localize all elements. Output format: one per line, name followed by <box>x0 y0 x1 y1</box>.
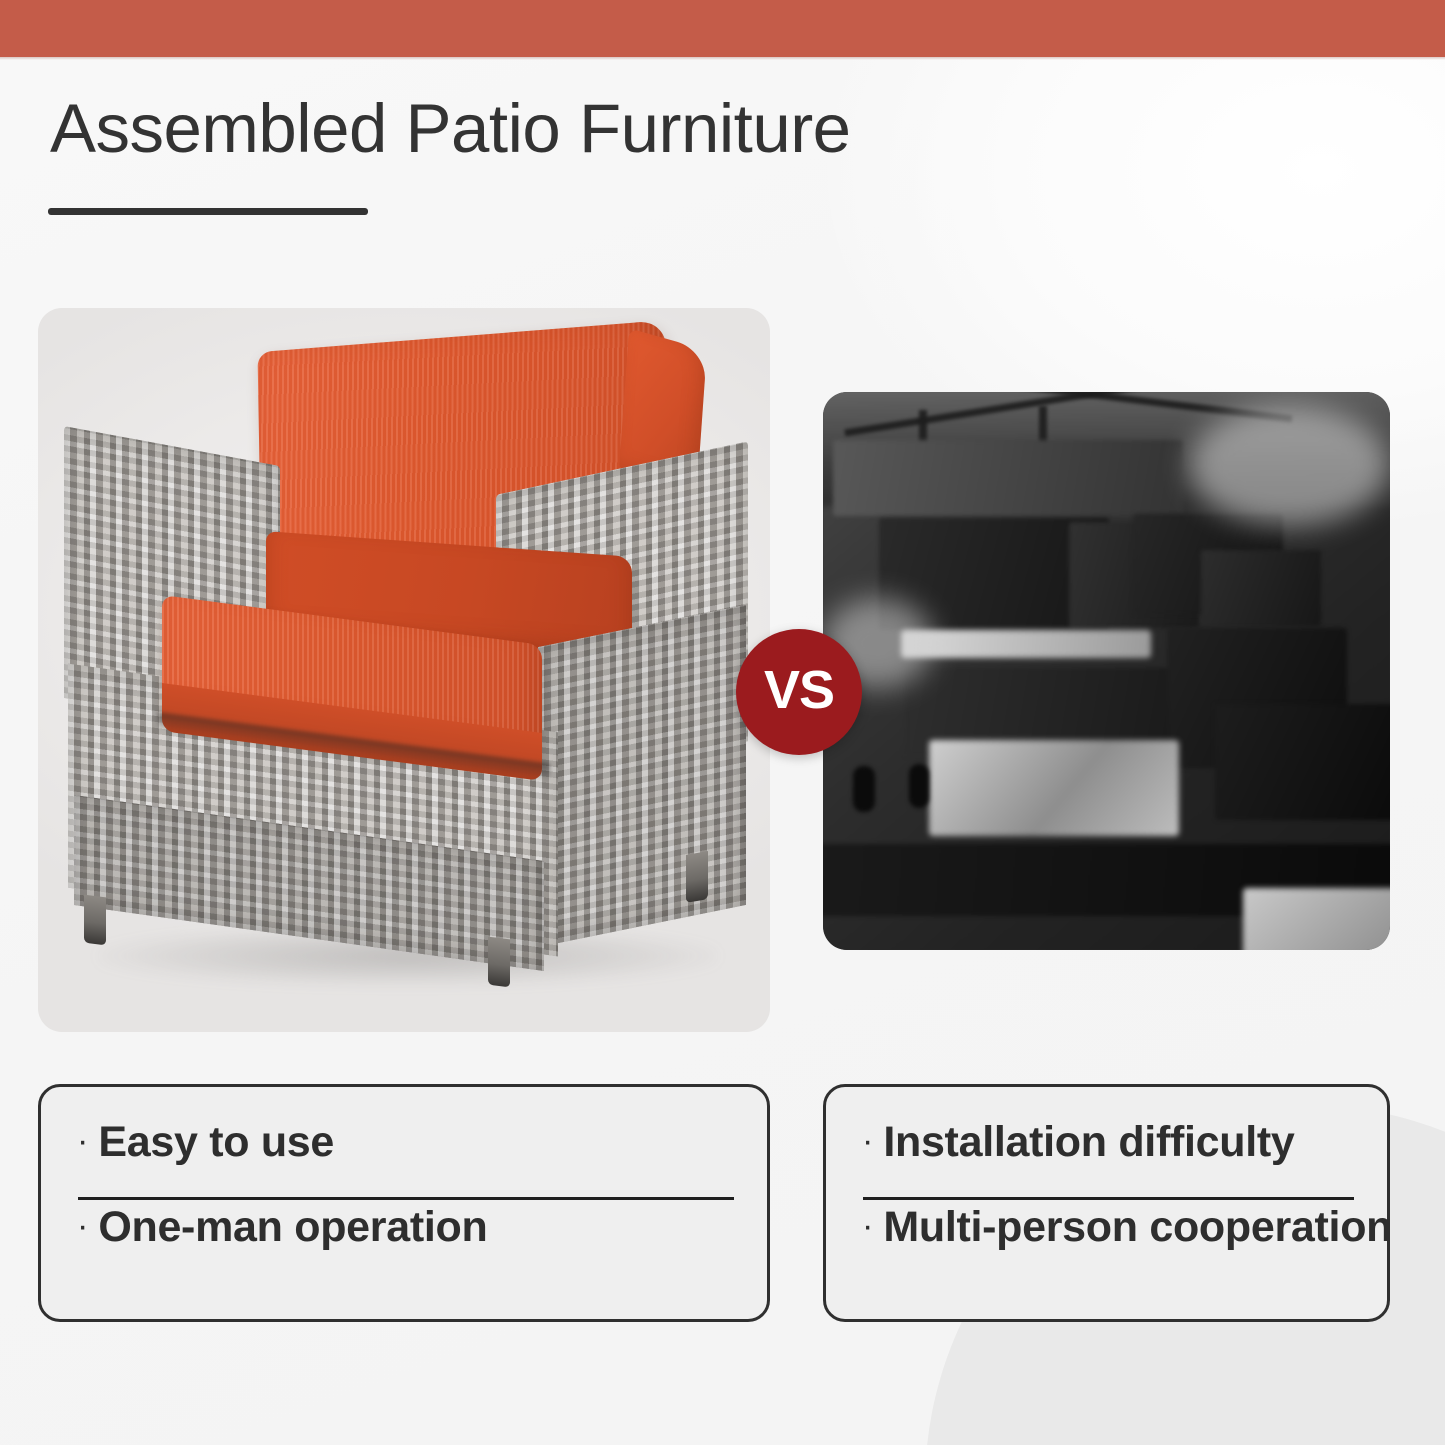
top-accent-bar-shadow <box>0 57 1445 60</box>
plastic-wrap-corner <box>1243 888 1390 950</box>
pros-list: · Easy to use · One-man operation <box>41 1121 767 1278</box>
cons-divider <box>863 1197 1354 1200</box>
cons-item-1-label: Installation difficulty <box>883 1121 1294 1164</box>
list-item: · One-man operation <box>41 1206 767 1278</box>
parts-panel-4 <box>1201 550 1321 626</box>
infographic-canvas: Assembled Patio Furniture <box>0 0 1445 1445</box>
bullet-dot-icon: · <box>862 1209 873 1243</box>
pros-feature-box: · Easy to use · One-man operation <box>38 1084 770 1322</box>
chair-foot-part-1 <box>853 766 875 812</box>
versus-badge: VS <box>736 629 862 755</box>
chair-right-side-panel <box>538 605 746 947</box>
cons-feature-box: · Installation difficulty · Multi-person… <box>823 1084 1390 1322</box>
bullet-dot-icon: · <box>862 1124 873 1158</box>
plastic-wrap-bundle <box>929 740 1179 836</box>
bullet-dot-icon: · <box>77 1209 88 1243</box>
pros-item-1-label: Easy to use <box>98 1121 334 1164</box>
photo-highlight-top-right <box>1189 406 1389 526</box>
disassembled-parts-image-card <box>823 392 1390 950</box>
chair-photo <box>38 308 770 1032</box>
chair-leg-front-right <box>488 937 510 988</box>
page-title: Assembled Patio Furniture <box>50 92 851 167</box>
plastic-wrap-strip <box>901 630 1151 658</box>
bullet-dot-icon: · <box>77 1124 88 1158</box>
top-accent-bar <box>0 0 1445 57</box>
list-item: · Multi-person cooperation <box>826 1206 1387 1278</box>
list-item: · Installation difficulty <box>826 1121 1387 1193</box>
assembled-product-image-card <box>38 308 770 1032</box>
cons-list: · Installation difficulty · Multi-person… <box>826 1121 1387 1278</box>
versus-badge-label: VS <box>764 663 834 717</box>
chair-leg-back-right <box>686 851 708 903</box>
parts-panel-7 <box>1215 704 1390 820</box>
list-item: · Easy to use <box>41 1121 767 1193</box>
cons-item-2-label: Multi-person cooperation <box>883 1206 1392 1249</box>
chair-foot-part-2 <box>909 764 929 808</box>
parts-row-back <box>833 440 1183 516</box>
chair-leg-front-left <box>84 895 106 946</box>
pros-divider <box>78 1197 734 1200</box>
title-underline <box>48 208 368 215</box>
wicker-armchair <box>38 308 770 1032</box>
warehouse-parts-photo <box>823 392 1390 950</box>
pros-item-2-label: One-man operation <box>98 1206 487 1249</box>
